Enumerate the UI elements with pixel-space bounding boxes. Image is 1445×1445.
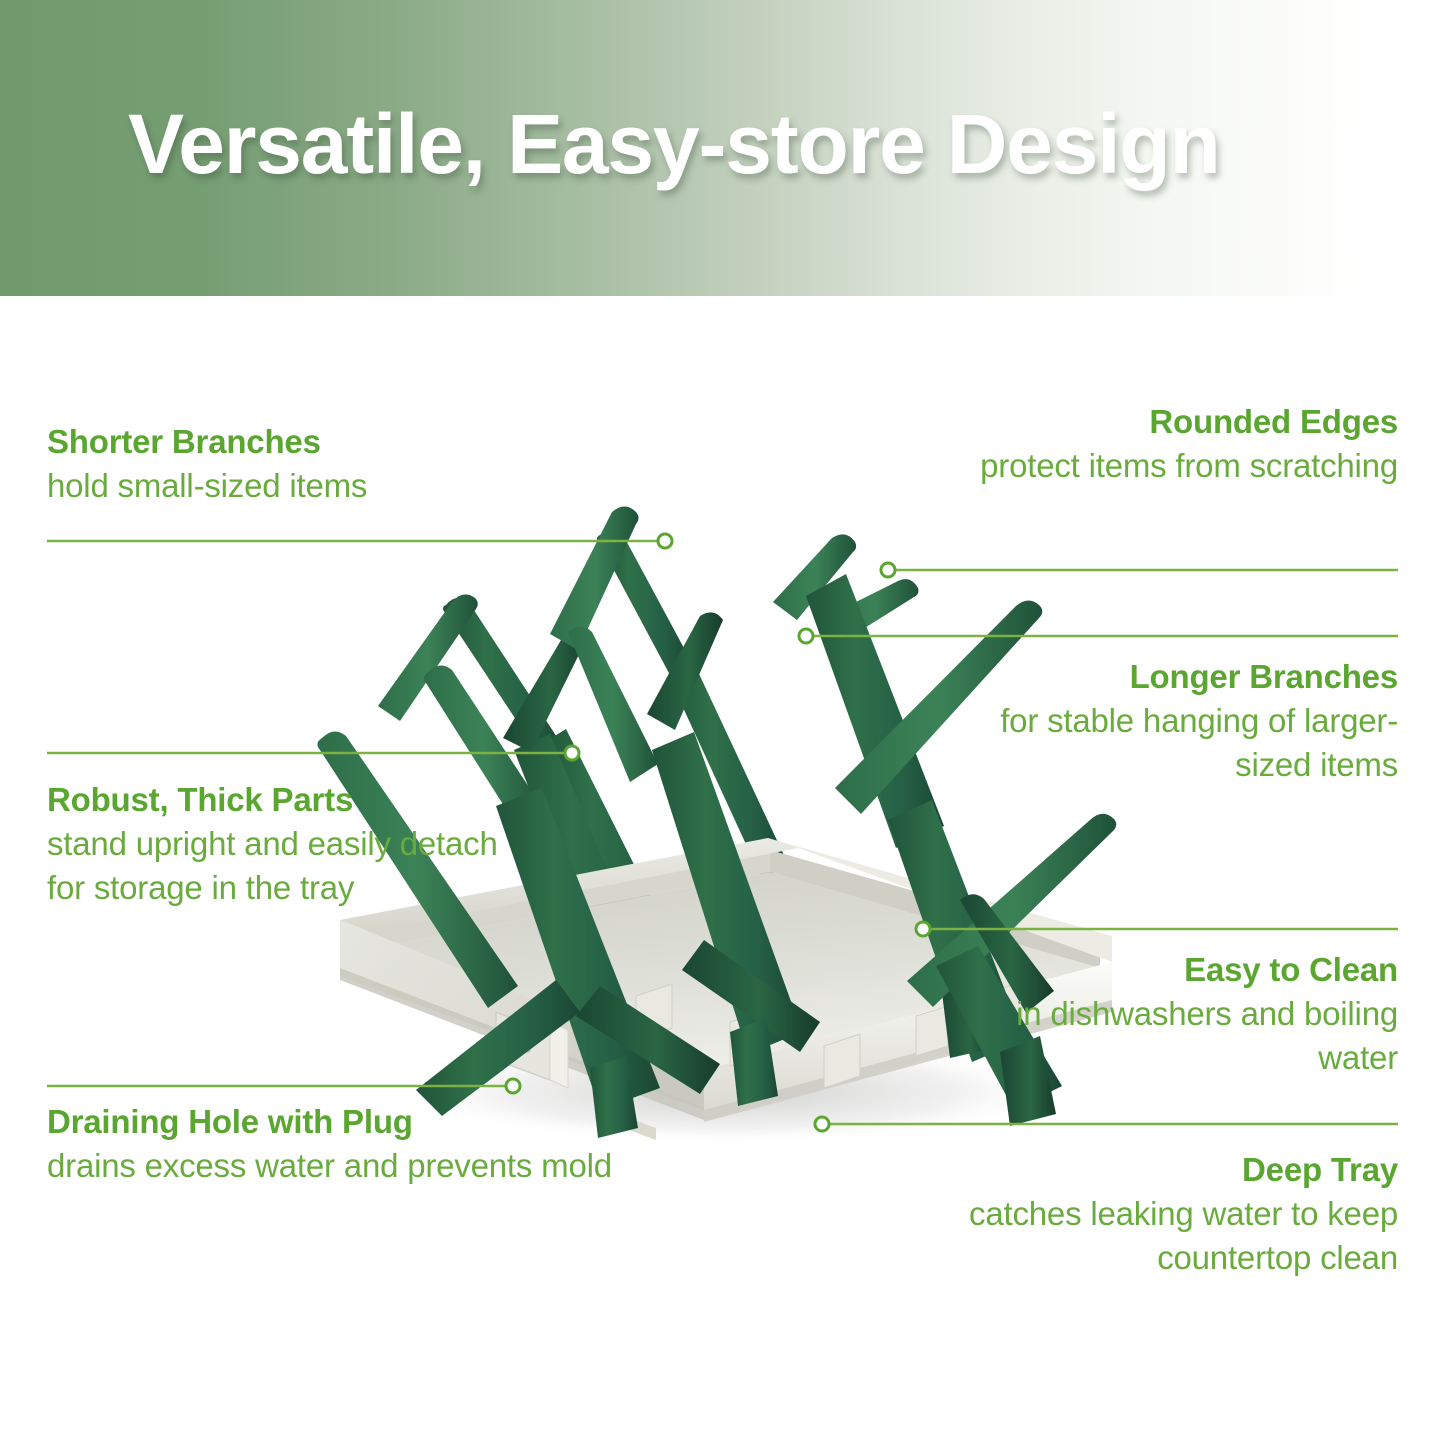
callout-body-deep-tray: catches leaking water to keep countertop… [940, 1192, 1398, 1280]
infographic-canvas: Versatile, Easy-store Design [0, 0, 1445, 1445]
connector-dot-longer-branches [799, 629, 813, 643]
callout-longer-branches: Longer Branches for stable hanging of la… [970, 655, 1398, 787]
connector-dot-draining-hole [506, 1079, 520, 1093]
callout-body-easy-to-clean: in dishwashers and boiling water [970, 992, 1398, 1080]
callout-title-rounded-edges: Rounded Edges [970, 400, 1398, 444]
callout-body-shorter-branches: hold small-sized items [47, 464, 567, 508]
connector-dot-rounded-edges [881, 563, 895, 577]
callout-title-easy-to-clean: Easy to Clean [970, 948, 1398, 992]
connector-dot-easy-to-clean [916, 922, 930, 936]
callout-shorter-branches: Shorter Branches hold small-sized items [47, 420, 567, 508]
callout-draining-hole-with-plug: Draining Hole with Plug drains excess wa… [47, 1100, 807, 1188]
callout-rounded-edges: Rounded Edges protect items from scratch… [970, 400, 1398, 488]
connector-dot-shorter-branches [658, 534, 672, 548]
callout-title-shorter-branches: Shorter Branches [47, 420, 567, 464]
callout-body-robust-thick-parts: stand upright and easily detach for stor… [47, 822, 517, 910]
callout-deep-tray: Deep Tray catches leaking water to keep … [940, 1148, 1398, 1280]
connector-dot-robust-thick-parts [565, 746, 579, 760]
callout-title-deep-tray: Deep Tray [940, 1148, 1398, 1192]
callout-body-longer-branches: for stable hanging of larger-sized items [970, 699, 1398, 787]
callout-title-draining-hole-with-plug: Draining Hole with Plug [47, 1100, 807, 1144]
callout-body-draining-hole-with-plug: drains excess water and prevents mold [47, 1144, 807, 1188]
callout-easy-to-clean: Easy to Clean in dishwashers and boiling… [970, 948, 1398, 1080]
callout-title-robust-thick-parts: Robust, Thick Parts [47, 778, 517, 822]
connector-dot-deep-tray [815, 1117, 829, 1131]
callout-body-rounded-edges: protect items from scratching [970, 444, 1398, 488]
callout-robust-thick-parts: Robust, Thick Parts stand upright and ea… [47, 778, 517, 910]
callout-title-longer-branches: Longer Branches [970, 655, 1398, 699]
